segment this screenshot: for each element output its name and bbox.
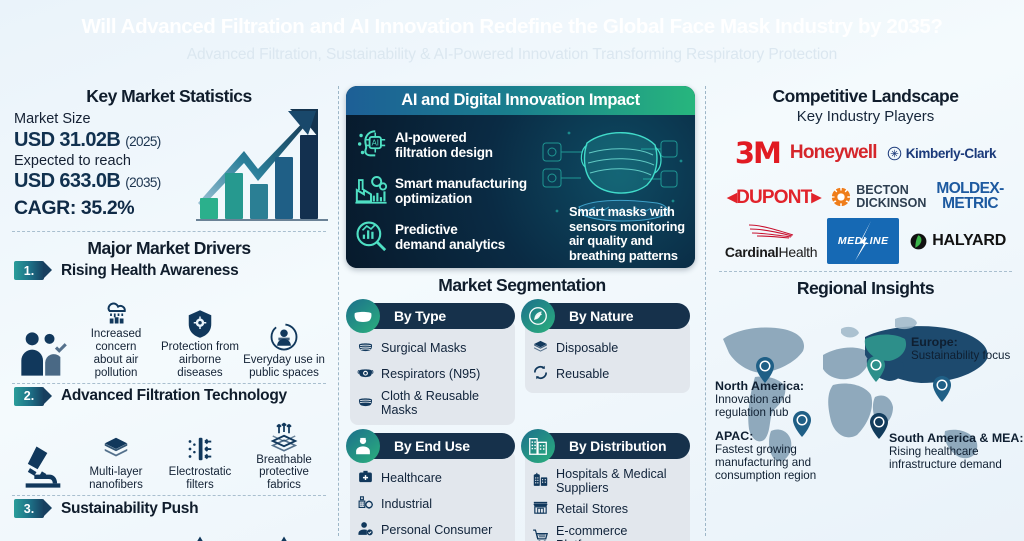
driver-3-cell-1: Reusable masks bbox=[74, 520, 158, 541]
segmentation-header-3: By End Use bbox=[350, 433, 515, 459]
seg-item-label-4-3: E-commerce Platforms bbox=[556, 525, 683, 541]
driver-2-caption-1: Multi-layer nanofibers bbox=[74, 466, 158, 492]
analytics-magnifier-icon-wrap bbox=[354, 219, 388, 258]
driver-2-cell-3: Breathable protective fabrics bbox=[242, 408, 326, 493]
driver-3-cell-2: Biodegradable materials bbox=[158, 520, 242, 541]
surgical-mask-icon-wrap bbox=[357, 338, 374, 360]
driver-header-2: 2.Advanced Filtration Technology bbox=[8, 387, 330, 406]
seg-item-label-3-1: Healthcare bbox=[381, 472, 442, 486]
chart-bars bbox=[200, 123, 328, 219]
refresh-cycle-icon-wrap bbox=[532, 364, 549, 386]
logo-text-moldex: MOLDEX-METRIC bbox=[936, 182, 1003, 211]
driver-icons-3: Reusable masksBiodegradable materialsRec… bbox=[8, 520, 330, 541]
key-stats-block: Market Size USD 31.02B (2025) Expected t… bbox=[8, 107, 330, 225]
driver-header-1: 1.Rising Health Awareness bbox=[8, 261, 330, 280]
seg-item-3-3[interactable]: Personal Consumer bbox=[357, 520, 508, 541]
segmentation-label-4: By Distribution bbox=[569, 438, 666, 454]
driver-2-cell-2: Electrostatic filters bbox=[158, 420, 242, 492]
segmentation-card-1[interactable]: By TypeSurgical MasksRespirators (N95)Cl… bbox=[350, 303, 515, 425]
region-name-apac: APAC: bbox=[715, 429, 753, 443]
chart-baseline bbox=[196, 219, 328, 221]
driver-hero-icon-1 bbox=[12, 318, 74, 380]
seg-item-4-2[interactable]: Retail Stores bbox=[532, 499, 683, 521]
logo-text-cardinal: CardinalHealth bbox=[725, 223, 817, 260]
shield-virus-icon-wrap bbox=[158, 295, 242, 339]
doctor-icon-badge bbox=[346, 429, 380, 463]
surgical-mask-icon bbox=[357, 338, 374, 355]
surgical-mask-icon bbox=[352, 305, 374, 327]
driver-number-badge-3: 3. bbox=[14, 499, 52, 518]
driver-hero-icon-2 bbox=[12, 430, 74, 492]
region-desc-apac: Fastest growing manufacturing and consum… bbox=[715, 443, 816, 482]
recycle-icon-wrap bbox=[158, 520, 242, 541]
person-check-icon-wrap bbox=[357, 520, 374, 541]
recycle-icon bbox=[269, 534, 299, 541]
driver-title-3: Sustainability Push bbox=[61, 500, 198, 518]
kimberly-clark-mark-icon bbox=[887, 146, 902, 161]
ai-panel-body: AIAI-powered filtration designSmart manu… bbox=[346, 115, 695, 268]
person-mask-icon bbox=[269, 322, 299, 352]
person-check-icon bbox=[357, 520, 374, 537]
growth-bar-chart bbox=[192, 107, 330, 225]
logo-kimberly: Kimberly-Clark bbox=[887, 133, 996, 173]
driver-hero-icon-3 bbox=[12, 530, 74, 541]
seg-item-label-2-1: Disposable bbox=[556, 342, 618, 356]
key-stats-title: Key Market Statistics bbox=[8, 86, 330, 107]
driver-number-badge-1: 1. bbox=[14, 261, 52, 280]
seg-item-label-2-2: Reusable bbox=[556, 368, 609, 382]
segmentation-header-4: By Distribution bbox=[525, 433, 690, 459]
stacked-sheets-icon bbox=[532, 338, 549, 355]
cardinal-bird-icon bbox=[747, 223, 795, 239]
svg-text:AI: AI bbox=[372, 138, 379, 147]
nature-leaf-icon-badge bbox=[521, 299, 555, 333]
regional-map: North America: Innovation and regulation… bbox=[715, 301, 1024, 477]
driver-divider-1 bbox=[12, 383, 326, 384]
stacked-sheets-icon-wrap bbox=[532, 338, 549, 360]
hospital-icon bbox=[532, 471, 549, 488]
doctor-icon bbox=[352, 435, 374, 457]
recycle-icon bbox=[185, 534, 215, 541]
driver-1-caption-3: Everyday use in public spaces bbox=[242, 354, 326, 380]
people-group-icon bbox=[17, 328, 69, 380]
segmentation-header-1: By Type bbox=[350, 303, 515, 329]
ai-brain-chip-icon-wrap: AI bbox=[354, 127, 388, 166]
logo-text-halyard: HALYARD bbox=[932, 232, 1006, 250]
driver-number-badge-2: 2. bbox=[14, 387, 52, 406]
right-column: Competitive Landscape Key Industry Playe… bbox=[707, 80, 1024, 541]
store-icon bbox=[532, 499, 549, 516]
electrostatic-filter-icon bbox=[185, 434, 215, 464]
ai-item-1: AIAI-powered filtration design bbox=[354, 123, 544, 169]
driver-2: 2.Advanced Filtration TechnologyMulti-la… bbox=[8, 387, 330, 497]
logo-halyard: HALYARD bbox=[909, 221, 1006, 261]
region-label-north-america: North America: Innovation and regulation… bbox=[715, 379, 815, 419]
logo-text-3m: 3M bbox=[735, 136, 780, 170]
infographic-page: Will Advanced Filtration and AI Innovati… bbox=[0, 0, 1024, 541]
page-header: Will Advanced Filtration and AI Innovati… bbox=[0, 0, 1024, 80]
smart-mask-highlight: Smart masks with sensors monitoring air … bbox=[569, 205, 691, 263]
driver-2-cell-1: Multi-layer nanofibers bbox=[74, 420, 158, 492]
driver-1-cell-1: Increased concern about air pollution bbox=[74, 282, 158, 380]
page-title: Will Advanced Filtration and AI Innovati… bbox=[81, 16, 942, 39]
segmentation-card-3[interactable]: By End UseHealthcareIndustrialPersonal C… bbox=[350, 433, 515, 541]
seg-item-label-3-3: Personal Consumer bbox=[381, 524, 492, 538]
region-desc-north-america: Innovation and regulation hub bbox=[715, 393, 791, 419]
logo-cardinal: CardinalHealth bbox=[725, 221, 817, 261]
shopping-cart-icon bbox=[532, 528, 549, 541]
hospital-building-icon-badge bbox=[521, 429, 555, 463]
seg-item-2-1[interactable]: Disposable bbox=[532, 338, 683, 360]
seg-item-1-1[interactable]: Surgical Masks bbox=[357, 338, 508, 360]
ai-innovation-panel: AI and Digital Innovation Impact AIAI-po… bbox=[346, 86, 695, 268]
expected-value-row: USD 633.0B (2035) bbox=[14, 169, 190, 194]
logo-moldex: MOLDEX-METRIC bbox=[936, 177, 1003, 217]
ai-panel-title: AI and Digital Innovation Impact bbox=[401, 91, 639, 110]
ai-item-text-1: AI-powered filtration design bbox=[395, 131, 493, 161]
middle-column: AI and Digital Innovation Impact AIAI-po… bbox=[340, 80, 704, 541]
seg-item-label-4-1: Hospitals & Medical Suppliers bbox=[556, 468, 683, 496]
surgical-mask-icon-badge bbox=[346, 299, 380, 333]
driver-1-caption-1: Increased concern about air pollution bbox=[74, 328, 158, 380]
regional-title: Regional Insights bbox=[715, 278, 1016, 299]
segmentation-label-1: By Type bbox=[394, 308, 446, 324]
market-size-label: Market Size bbox=[14, 111, 190, 128]
segmentation-label-2: By Nature bbox=[569, 308, 633, 324]
market-size-value-row: USD 31.02B (2025) bbox=[14, 128, 190, 153]
segmentation-body-4: Hospitals & Medical SuppliersRetail Stor… bbox=[525, 450, 690, 541]
driver-number-1: 1. bbox=[14, 261, 44, 280]
hospital-icon-wrap bbox=[532, 471, 549, 493]
reusable-mask-icon-wrap bbox=[74, 520, 158, 541]
ai-item-text-3: Predictive demand analytics bbox=[395, 223, 505, 253]
region-name-europe: Europe: bbox=[911, 335, 958, 349]
driver-title-1: Rising Health Awareness bbox=[61, 262, 238, 280]
refresh-cycle-icon bbox=[532, 364, 549, 381]
seg-item-label-1-1: Surgical Masks bbox=[381, 342, 466, 356]
ai-item-3: Predictive demand analytics bbox=[354, 215, 544, 261]
driver-header-3: 3.Sustainability Push bbox=[8, 499, 330, 518]
driver-1-cell-2: Protection from airborne diseases bbox=[158, 295, 242, 380]
reusable-mask-icon bbox=[101, 534, 131, 541]
medical-bag-icon-wrap bbox=[357, 468, 374, 490]
analytics-magnifier-icon bbox=[354, 219, 388, 253]
cagr-value: CAGR: 35.2% bbox=[14, 197, 190, 220]
left-column: Key Market Statistics Market Size USD 31… bbox=[0, 80, 338, 541]
recycle-icon-wrap bbox=[242, 520, 326, 541]
ai-feature-list: AIAI-powered filtration designSmart manu… bbox=[354, 123, 544, 261]
region-desc-europe: Sustainability focus bbox=[911, 349, 1010, 362]
ai-brain-chip-icon: AI bbox=[354, 127, 388, 161]
seg-item-1-3[interactable]: Cloth & Reusable Masks bbox=[357, 390, 508, 418]
seg-item-4-1[interactable]: Hospitals & Medical Suppliers bbox=[532, 468, 683, 496]
ai-item-text-2: Smart manufacturing optimization bbox=[395, 177, 527, 207]
cloth-mask-icon bbox=[357, 393, 374, 410]
page-subtitle: Advanced Filtration, Sustainability & AI… bbox=[187, 46, 837, 64]
logo-text-becton: BECTONDICKINSON bbox=[856, 184, 926, 210]
driver-icons-2: Multi-layer nanofibersElectrostatic filt… bbox=[8, 408, 330, 493]
chart-bar-5 bbox=[300, 135, 318, 219]
seg-item-label-1-3: Cloth & Reusable Masks bbox=[381, 390, 508, 418]
driver-3-cell-3: Recyclable packaging bbox=[242, 520, 326, 541]
logo-dupont: ◂DUPONT▸ bbox=[727, 177, 820, 217]
chart-bar-4 bbox=[275, 157, 293, 219]
mea-pin[interactable] bbox=[870, 413, 888, 439]
seg-item-4-3[interactable]: E-commerce Platforms bbox=[532, 525, 683, 541]
divider-stats-drivers bbox=[12, 231, 326, 232]
driver-2-caption-2: Electrostatic filters bbox=[158, 466, 242, 492]
region-label-europe: Europe: Sustainability focus bbox=[911, 335, 1024, 362]
segmentation-card-4[interactable]: By DistributionHospitals & Medical Suppl… bbox=[525, 433, 690, 541]
region-label-apac: APAC: Fastest growing manufacturing and … bbox=[715, 429, 835, 482]
logo-honeywell: Honeywell bbox=[790, 133, 877, 173]
shopping-cart-icon-wrap bbox=[532, 528, 549, 541]
driver-badge-tip-3 bbox=[43, 499, 52, 517]
competitive-subtitle: Key Industry Players bbox=[715, 108, 1016, 125]
drivers-list: 1.Rising Health AwarenessIncreased conce… bbox=[8, 261, 330, 541]
microscope-icon bbox=[17, 440, 69, 492]
drivers-title: Major Market Drivers bbox=[8, 238, 330, 259]
logo-text-dupont: ◂DUPONT▸ bbox=[727, 186, 820, 209]
chart-bar-3 bbox=[250, 184, 268, 219]
seg-item-2-2[interactable]: Reusable bbox=[532, 364, 683, 386]
ai-item-2: Smart manufacturing optimization bbox=[354, 169, 544, 215]
region-name-mea: South America & MEA: bbox=[889, 431, 1023, 445]
competitive-title: Competitive Landscape bbox=[715, 86, 1016, 107]
logo-3m: 3M bbox=[735, 133, 780, 173]
segmentation-body-2: DisposableReusable bbox=[525, 320, 690, 393]
cloth-mask-icon-wrap bbox=[357, 393, 374, 415]
respirator-icon bbox=[357, 364, 374, 381]
market-size-value: USD 31.02B bbox=[14, 129, 120, 151]
driver-number-3: 3. bbox=[14, 499, 44, 518]
logo-text-kimberly: Kimberly-Clark bbox=[906, 146, 996, 161]
nature-leaf-icon bbox=[527, 305, 549, 327]
driver-1-cell-3: Everyday use in public spaces bbox=[242, 308, 326, 380]
industrial-gear-icon bbox=[357, 494, 374, 511]
market-size-year: (2025) bbox=[125, 134, 160, 149]
becton-dickinson-mark-icon bbox=[830, 186, 852, 208]
segmentation-body-1: Surgical MasksRespirators (N95)Cloth & R… bbox=[350, 320, 515, 425]
seg-item-3-1[interactable]: Healthcare bbox=[357, 468, 508, 490]
driver-title-2: Advanced Filtration Technology bbox=[61, 387, 287, 405]
driver-icons-1: Increased concern about air pollutionPro… bbox=[8, 282, 330, 380]
segmentation-label-3: By End Use bbox=[394, 438, 470, 454]
divider-logos-regional bbox=[719, 271, 1012, 272]
segmentation-card-2[interactable]: By NatureDisposableReusable bbox=[525, 303, 690, 425]
breathable-fabric-icon bbox=[269, 422, 299, 452]
region-label-mea: South America & MEA: Rising healthcare i… bbox=[889, 431, 1024, 471]
air-pollution-cloud-icon-wrap bbox=[74, 282, 158, 326]
segmentation-grid: By TypeSurgical MasksRespirators (N95)Cl… bbox=[346, 303, 698, 541]
seg-item-3-2[interactable]: Industrial bbox=[357, 494, 508, 516]
seg-item-label-3-2: Industrial bbox=[381, 498, 432, 512]
driver-1-caption-2: Protection from airborne diseases bbox=[158, 341, 242, 380]
logo-text-medline: MEDLINE bbox=[827, 218, 899, 264]
divider-mid-right bbox=[705, 86, 706, 536]
ai-panel-header: AI and Digital Innovation Impact bbox=[346, 86, 695, 115]
breathable-fabric-icon-wrap bbox=[242, 408, 326, 452]
layered-sheets-icon-wrap bbox=[74, 420, 158, 464]
expected-label: Expected to reach bbox=[14, 153, 190, 170]
expected-year: (2035) bbox=[125, 175, 160, 190]
respirator-icon-wrap bbox=[357, 364, 374, 386]
driver-divider-2 bbox=[12, 495, 326, 496]
logo-grid: 3MHoneywellKimberly-Clark◂DUPONT▸BECTOND… bbox=[715, 133, 1016, 261]
seg-item-label-1-2: Respirators (N95) bbox=[381, 368, 480, 382]
logo-medline: MEDLINE bbox=[827, 221, 899, 261]
hospital-building-icon bbox=[527, 435, 549, 457]
store-icon-wrap bbox=[532, 499, 549, 521]
driver-1: 1.Rising Health AwarenessIncreased conce… bbox=[8, 261, 330, 384]
driver-badge-tip-2 bbox=[43, 387, 52, 405]
expected-value: USD 633.0B bbox=[14, 170, 120, 192]
divider-left-mid bbox=[338, 86, 339, 536]
logo-becton: BECTONDICKINSON bbox=[830, 177, 926, 217]
smart-factory-icon-wrap bbox=[354, 173, 388, 212]
halyard-mark-icon bbox=[909, 232, 928, 251]
segmentation-header-2: By Nature bbox=[525, 303, 690, 329]
segmentation-body-3: HealthcareIndustrialPersonal Consumer bbox=[350, 450, 515, 541]
region-name-north-america: North America: bbox=[715, 379, 804, 393]
driver-2-caption-3: Breathable protective fabrics bbox=[242, 454, 326, 493]
seg-item-1-2[interactable]: Respirators (N95) bbox=[357, 364, 508, 386]
europe-pin[interactable] bbox=[867, 356, 885, 382]
driver-badge-tip-1 bbox=[43, 261, 52, 279]
chart-bar-2 bbox=[225, 173, 243, 219]
layered-sheets-icon bbox=[101, 434, 131, 464]
apac-pin[interactable] bbox=[933, 376, 951, 402]
electrostatic-filter-icon-wrap bbox=[158, 420, 242, 464]
logo-text-honeywell: Honeywell bbox=[790, 142, 877, 164]
driver-number-2: 2. bbox=[14, 387, 44, 406]
air-pollution-cloud-icon bbox=[101, 296, 131, 326]
seg-item-label-4-2: Retail Stores bbox=[556, 503, 628, 517]
medical-bag-icon bbox=[357, 468, 374, 485]
segmentation-title: Market Segmentation bbox=[346, 275, 698, 296]
person-mask-icon-wrap bbox=[242, 308, 326, 352]
driver-3: 3.Sustainability PushReusable masksBiode… bbox=[8, 499, 330, 541]
smart-factory-icon bbox=[354, 173, 388, 207]
shield-virus-icon bbox=[185, 309, 215, 339]
chart-bar-1 bbox=[200, 198, 218, 219]
industrial-gear-icon-wrap bbox=[357, 494, 374, 516]
region-desc-mea: Rising healthcare infrastructure demand bbox=[889, 445, 1002, 471]
